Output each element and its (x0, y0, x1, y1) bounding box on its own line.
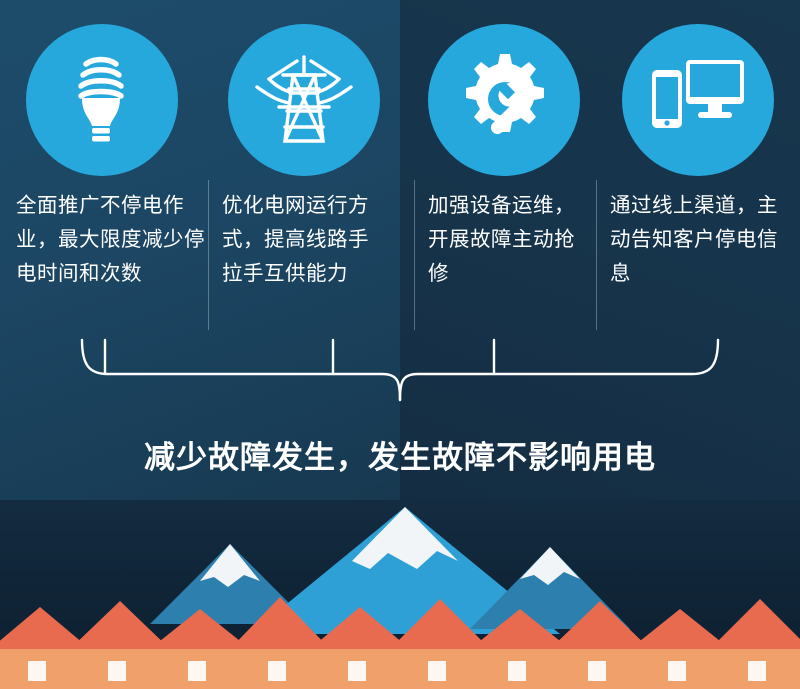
circle-background-4 (622, 24, 774, 176)
caption-text-3: 加强设备运维，开展故障主动抢修 (428, 188, 583, 290)
phone-monitor-icon (648, 52, 748, 148)
cfl-bulb-icon (56, 48, 148, 152)
column-divider-1 (208, 180, 209, 330)
circle-background-1 (26, 24, 178, 176)
icon-circle-3 (428, 24, 580, 176)
brace-connector (60, 334, 740, 434)
column-divider-2 (414, 180, 415, 330)
gear-wrench-icon (454, 48, 554, 152)
icon-circle-row (0, 24, 800, 194)
icon-circle-2 (228, 24, 380, 176)
poster-root: 全面推广不停电作业，最大限度减少停电时间和次数 优化电网运行方式，提高线路手拉手… (0, 0, 800, 689)
icon-circle-4 (622, 24, 774, 176)
transmission-tower-icon (249, 49, 359, 151)
caption-text-1: 全面推广不停电作业，最大限度减少停电时间和次数 (16, 188, 216, 290)
icon-circle-1 (26, 24, 178, 176)
headline-text: 减少故障发生，发生故障不影响用电 (0, 432, 800, 477)
column-divider-3 (596, 180, 597, 330)
caption-text-4: 通过线上渠道，主动告知客户停电信息 (610, 188, 790, 290)
circle-background-2 (228, 24, 380, 176)
city-scenery-illustration (0, 489, 800, 689)
mountain-range (150, 507, 630, 634)
circle-background-3 (428, 24, 580, 176)
caption-text-2: 优化电网运行方式，提高线路手拉手互供能力 (222, 188, 382, 290)
